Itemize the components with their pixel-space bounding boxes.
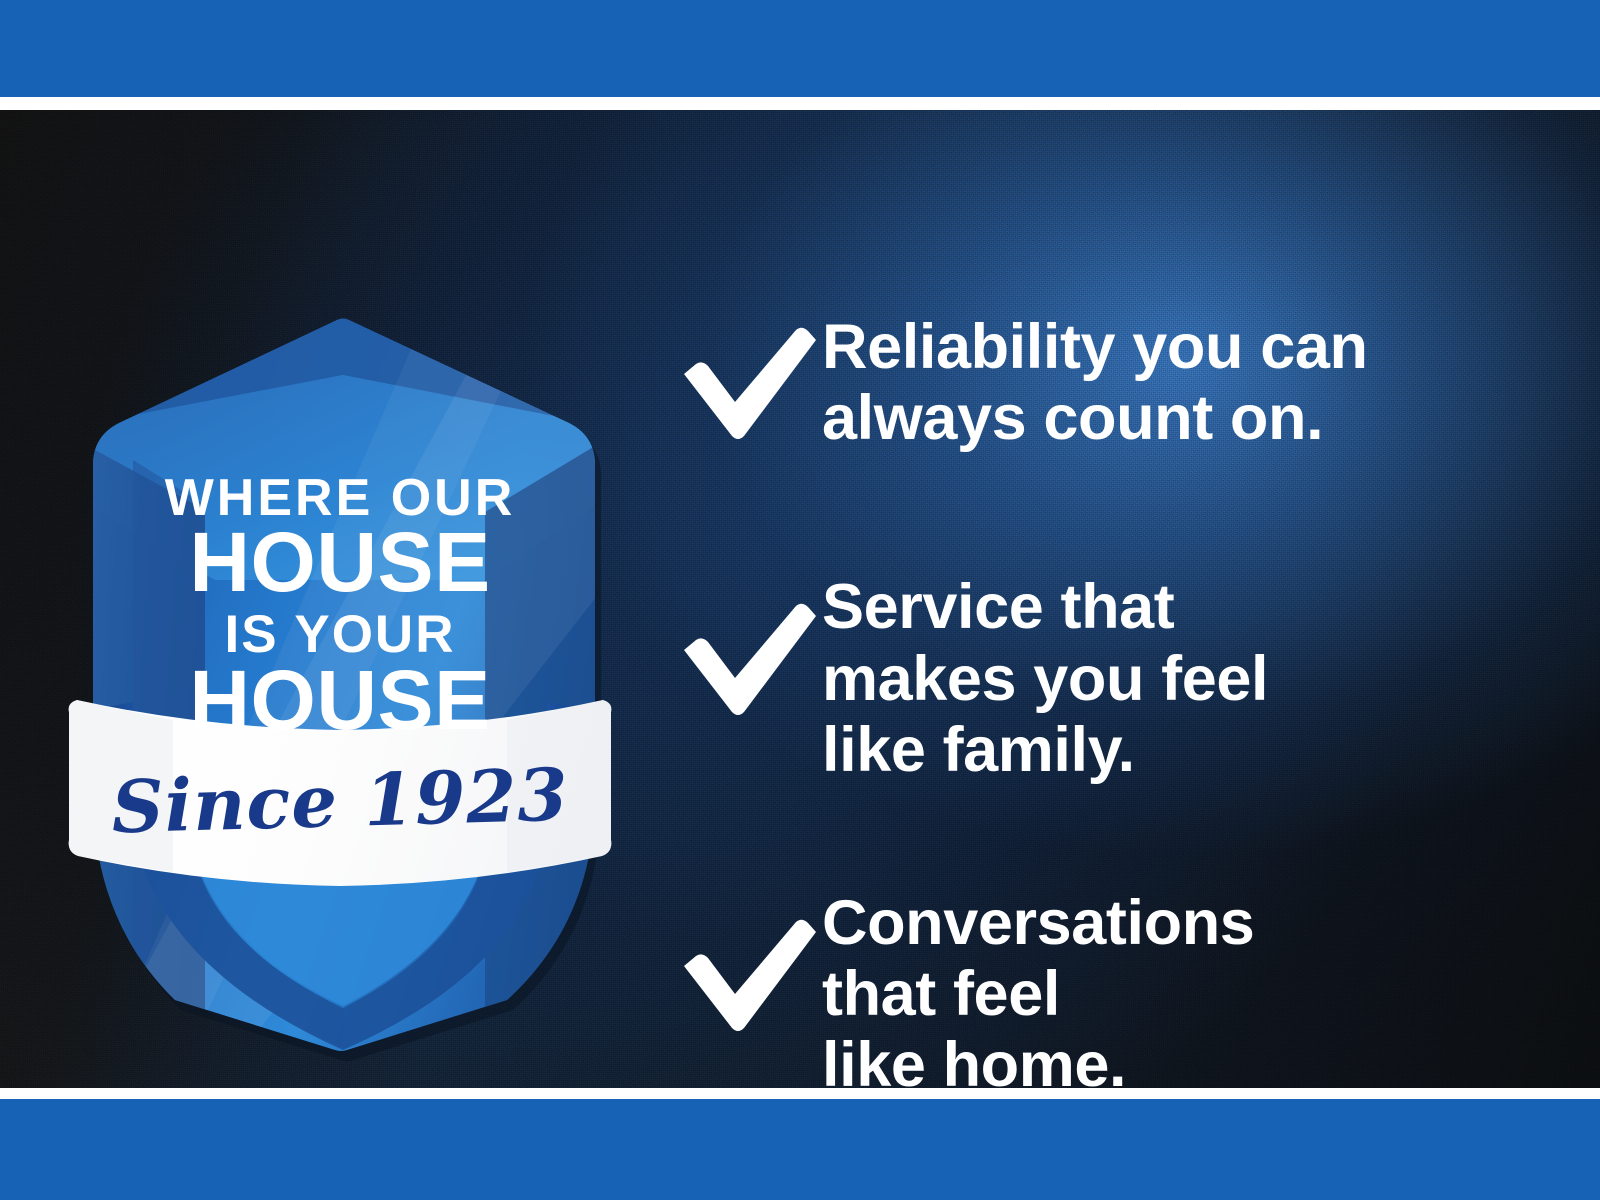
list-item: Reliability you can always count on. xyxy=(672,310,1522,454)
benefits-list: Reliability you can always count on. Ser… xyxy=(672,310,1522,1088)
top-brand-bar xyxy=(0,0,1600,97)
main-content-panel: WHERE OUR HOUSE IS YOUR HOUSE Since 1923… xyxy=(0,110,1600,1088)
list-item: Conversations that feel like home. xyxy=(672,886,1522,1088)
shield-body xyxy=(55,280,625,1080)
list-item-label: Reliability you can always count on. xyxy=(822,310,1522,454)
promotional-banner: WHERE OUR HOUSE IS YOUR HOUSE Since 1923… xyxy=(0,0,1600,1200)
list-item-label: Conversations that feel like home. xyxy=(822,886,1522,1088)
list-item: Service that makes you feel like family. xyxy=(672,570,1522,786)
check-icon xyxy=(672,324,822,444)
check-icon xyxy=(672,600,822,720)
shield-badge: WHERE OUR HOUSE IS YOUR HOUSE Since 1923 xyxy=(55,280,625,1080)
list-item-label: Service that makes you feel like family. xyxy=(822,570,1522,786)
bottom-brand-bar xyxy=(0,1099,1600,1200)
check-icon xyxy=(672,916,822,1036)
